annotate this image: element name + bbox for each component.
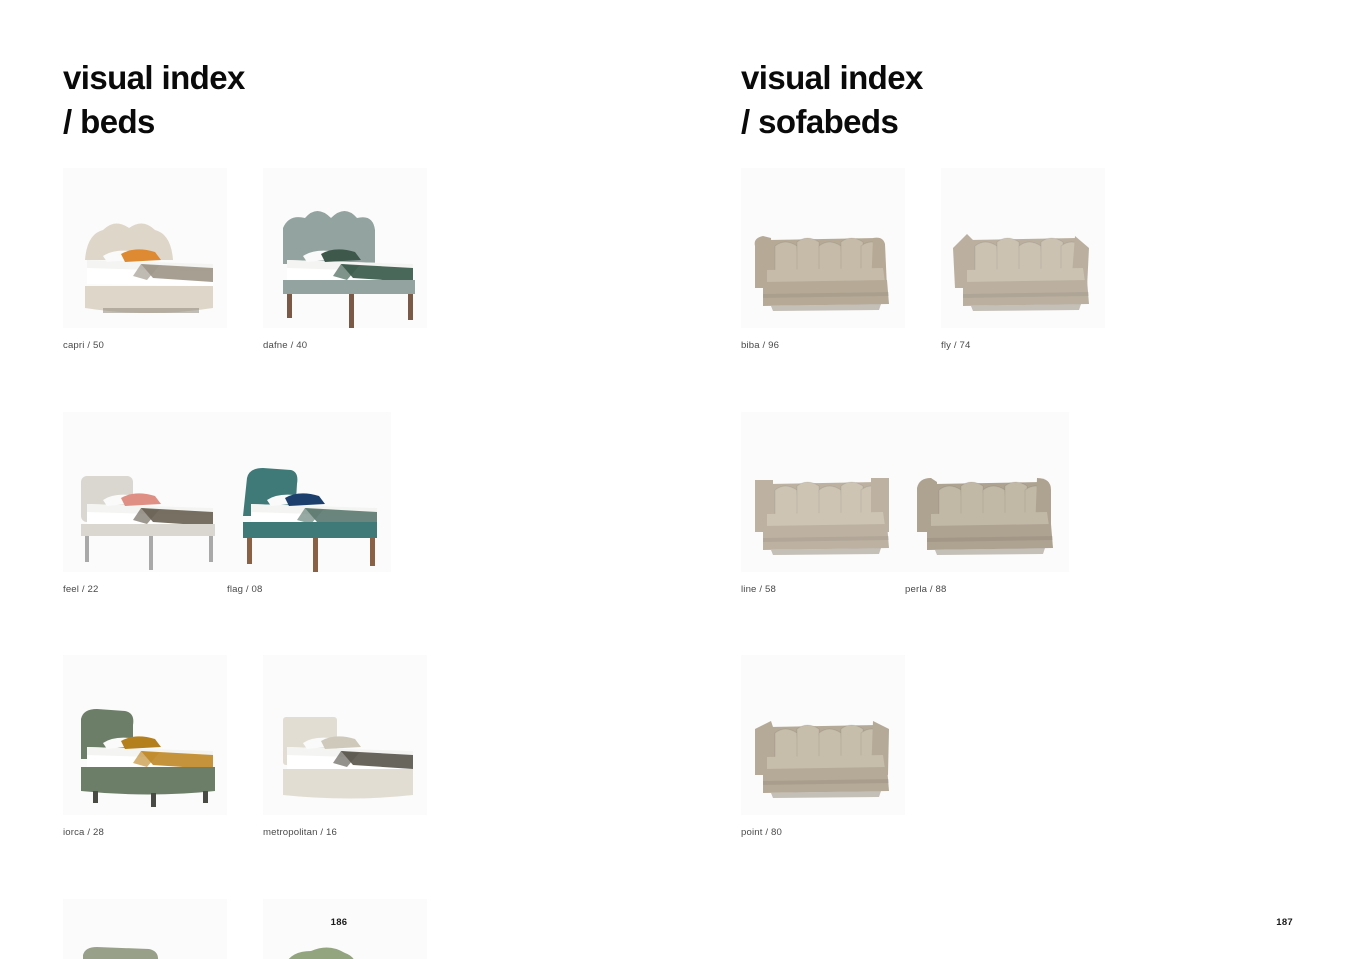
beds-grid: capri / 50 dafne / 40 feel / 22 xyxy=(63,168,623,959)
sofabed-point-thumbnail[interactable] xyxy=(741,655,905,815)
bed-dafne-thumbnail[interactable] xyxy=(263,168,427,328)
sofabed-caption: point / 80 xyxy=(741,827,905,839)
bed-metropolitan-thumbnail-art xyxy=(263,655,427,815)
bed-metropolitan-thumbnail[interactable] xyxy=(263,655,427,815)
sofabed-cell-biba[interactable]: biba / 96 xyxy=(741,168,905,352)
page-title-beds: visual index / beds xyxy=(63,56,245,144)
bed-capri-thumbnail-art xyxy=(63,168,227,328)
bed-dafne-thumbnail-art xyxy=(263,168,427,328)
bed-caption: capri / 50 xyxy=(63,340,227,352)
bed-feel-thumbnail[interactable] xyxy=(63,412,227,572)
bed-cell-flag[interactable]: flag / 08 xyxy=(227,412,391,596)
sofabed-fly-thumbnail-art xyxy=(941,168,1105,328)
bed-cell-feel[interactable]: feel / 22 xyxy=(63,412,227,596)
sofabed-cell-point[interactable]: point / 80 xyxy=(741,655,905,839)
bed-cell-vanity[interactable]: vanity / 46 xyxy=(263,899,427,959)
page-number-left: 186 xyxy=(0,917,678,928)
page-left-beds: visual index / beds capri / 50 dafne / 4… xyxy=(0,0,678,959)
page-title-sofabeds: visual index / sofabeds xyxy=(741,56,923,144)
bed-cell-iorca[interactable]: iorca / 28 xyxy=(63,655,227,839)
sofabed-perla-thumbnail[interactable] xyxy=(905,412,1069,572)
sofabed-caption: perla / 88 xyxy=(905,584,1069,596)
sofabed-line-thumbnail-art xyxy=(741,412,905,572)
catalog-spread: visual index / beds capri / 50 dafne / 4… xyxy=(0,0,1356,959)
sofabed-biba-thumbnail[interactable] xyxy=(741,168,905,328)
sofabed-cell-fly[interactable]: fly / 74 xyxy=(941,168,1105,352)
sofabed-line-thumbnail[interactable] xyxy=(741,412,905,572)
bed-cell-selene[interactable]: selene / 34 xyxy=(63,899,227,959)
bed-caption: feel / 22 xyxy=(63,584,227,596)
page-right-sofabeds: visual index / sofabeds biba / 96 fly / … xyxy=(678,0,1356,959)
bed-flag-thumbnail-art xyxy=(227,412,391,572)
sofabed-fly-thumbnail[interactable] xyxy=(941,168,1105,328)
bed-selene-thumbnail-art xyxy=(63,899,227,959)
sofabed-caption: biba / 96 xyxy=(741,340,905,352)
sofabed-cell-line[interactable]: line / 58 xyxy=(741,412,905,596)
sofabed-point-thumbnail-art xyxy=(741,655,905,815)
sofabeds-grid: biba / 96 fly / 74 line / 58 perla / 88 xyxy=(741,168,1301,899)
bed-caption: flag / 08 xyxy=(227,584,391,596)
sofabed-perla-thumbnail-art xyxy=(905,412,1069,572)
bed-feel-thumbnail-art xyxy=(63,412,227,572)
bed-vanity-thumbnail[interactable] xyxy=(263,899,427,959)
bed-selene-thumbnail[interactable] xyxy=(63,899,227,959)
sofabed-caption: line / 58 xyxy=(741,584,905,596)
bed-vanity-thumbnail-art xyxy=(263,899,427,959)
sofabed-caption: fly / 74 xyxy=(941,340,1105,352)
bed-caption: iorca / 28 xyxy=(63,827,227,839)
sofabed-cell-perla[interactable]: perla / 88 xyxy=(905,412,1069,596)
bed-cell-metropolitan[interactable]: metropolitan / 16 xyxy=(263,655,427,839)
bed-caption: metropolitan / 16 xyxy=(263,827,427,839)
bed-iorca-thumbnail[interactable] xyxy=(63,655,227,815)
sofabed-biba-thumbnail-art xyxy=(741,168,905,328)
page-number-right: 187 xyxy=(678,917,1293,928)
bed-flag-thumbnail[interactable] xyxy=(227,412,391,572)
bed-cell-dafne[interactable]: dafne / 40 xyxy=(263,168,427,352)
bed-cell-capri[interactable]: capri / 50 xyxy=(63,168,227,352)
bed-capri-thumbnail[interactable] xyxy=(63,168,227,328)
bed-caption: dafne / 40 xyxy=(263,340,427,352)
bed-iorca-thumbnail-art xyxy=(63,655,227,815)
